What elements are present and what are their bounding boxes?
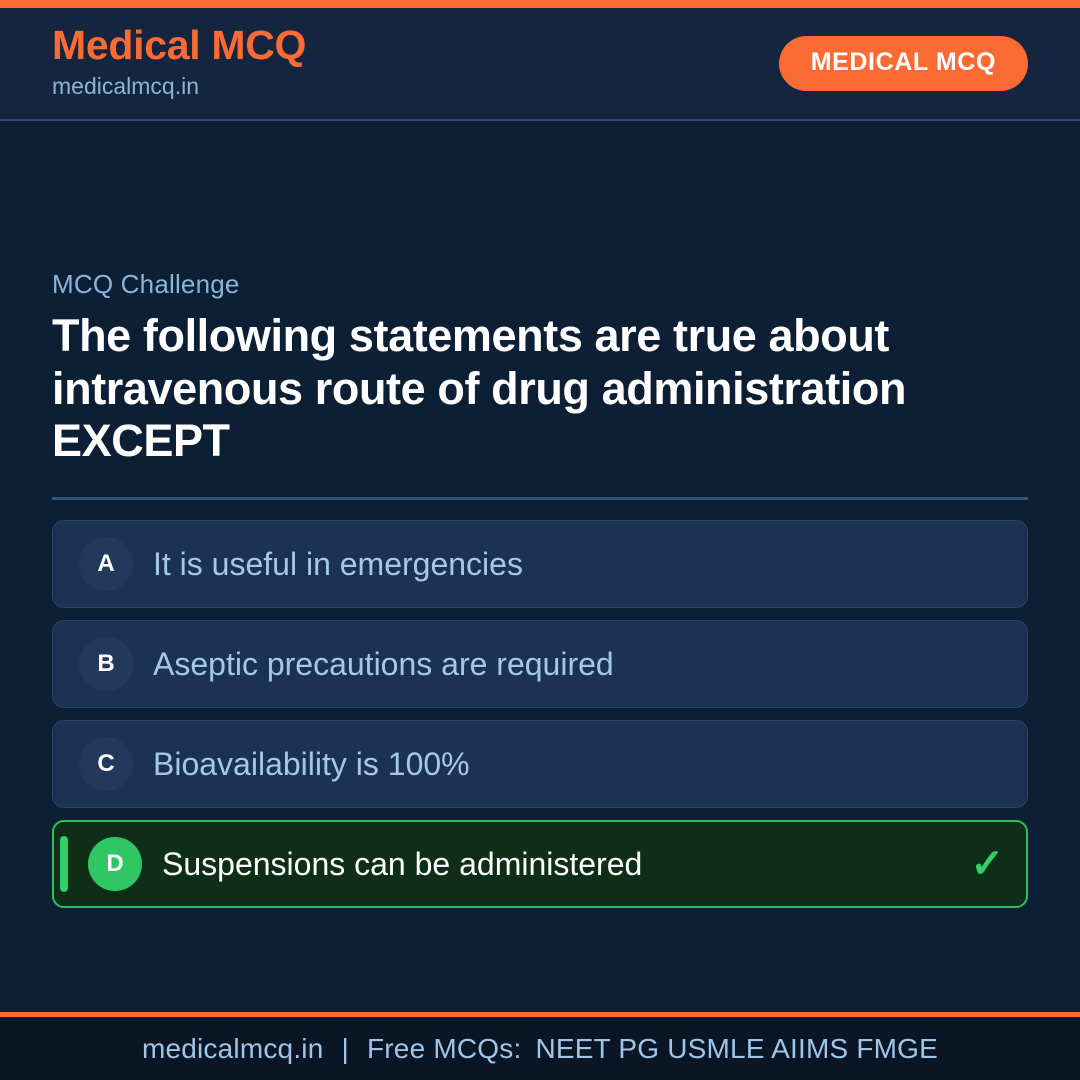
option-letter-badge: D (88, 837, 142, 891)
option-row-a[interactable]: A It is useful in emergencies (52, 520, 1028, 608)
brand-badge: MEDICAL MCQ (779, 36, 1028, 91)
mcq-card: Medical MCQ medicalmcq.in MEDICAL MCQ MC… (0, 0, 1080, 1080)
check-icon: ✓ (970, 844, 1004, 884)
brand-block: Medical MCQ medicalmcq.in (52, 24, 306, 104)
option-text: Suspensions can be administered (162, 845, 952, 883)
option-row-d[interactable]: D Suspensions can be administered ✓ (52, 820, 1028, 908)
footer-exams-label: Free MCQs: (367, 1033, 521, 1065)
question-text: The following statements are true about … (52, 310, 992, 468)
section-divider (52, 497, 1028, 500)
option-letter-badge: A (79, 537, 133, 591)
brand-title: Medical MCQ (52, 24, 306, 67)
options-list: A It is useful in emergencies B Aseptic … (52, 520, 1028, 908)
footer-separator: | (342, 1033, 349, 1065)
option-row-b[interactable]: B Aseptic precautions are required (52, 620, 1028, 708)
footer-site: medicalmcq.in (142, 1033, 324, 1065)
question-block: MCQ Challenge The following statements a… (52, 269, 1028, 468)
brand-subtitle: medicalmcq.in (52, 69, 306, 104)
option-row-c[interactable]: C Bioavailability is 100% (52, 720, 1028, 808)
option-letter-badge: B (79, 637, 133, 691)
main-content: MCQ Challenge The following statements a… (0, 121, 1080, 1012)
footer-exams: NEET PG USMLE AIIMS FMGE (535, 1033, 938, 1065)
eyebrow-label: MCQ Challenge (52, 269, 1028, 300)
option-letter-badge: C (79, 737, 133, 791)
top-accent-bar (0, 0, 1080, 8)
correct-accent-bar (60, 836, 68, 892)
footer: medicalmcq.in | Free MCQs: NEET PG USMLE… (0, 1012, 1080, 1080)
header: Medical MCQ medicalmcq.in MEDICAL MCQ (0, 8, 1080, 121)
option-text: Aseptic precautions are required (153, 645, 1005, 683)
option-text: It is useful in emergencies (153, 545, 1005, 583)
option-text: Bioavailability is 100% (153, 745, 1005, 783)
